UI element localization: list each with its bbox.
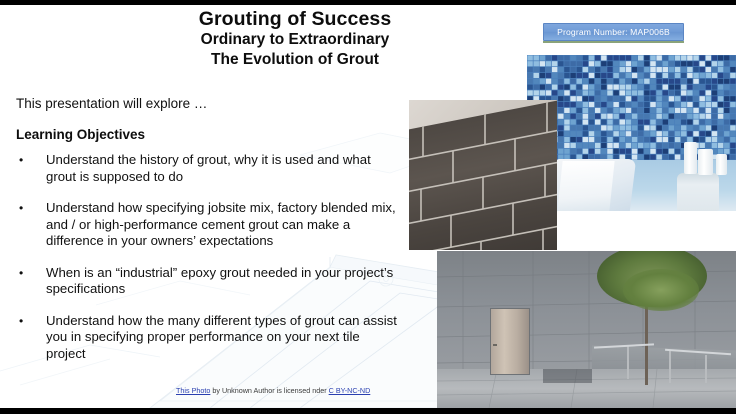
mosaic-candle: [684, 142, 697, 174]
bullet-point-icon: •: [16, 313, 46, 330]
bullet-point-icon: •: [16, 152, 46, 169]
photo-blue-mosaic-tile-wall: [527, 55, 736, 211]
letterbox-bar-bottom: [0, 408, 736, 414]
list-item: • Understand how the many different type…: [16, 313, 398, 363]
facade-tree-canopy-highlight: [623, 269, 699, 311]
facade-handrail-post: [627, 346, 629, 379]
mosaic-side-stool: [677, 173, 719, 211]
program-number-badge: Program Number: MAP006B: [543, 23, 684, 41]
attribution-photo-link[interactable]: This Photo: [176, 386, 210, 395]
mosaic-candle: [716, 154, 727, 175]
slide-subtitle-line-2: The Evolution of Grout: [110, 50, 480, 69]
attribution-license-link[interactable]: C BY-NC-ND: [329, 386, 371, 395]
program-number-label: Program Number: MAP006B: [557, 27, 670, 37]
mosaic-towel-fold: [557, 161, 614, 211]
bullet-point-icon: •: [16, 265, 46, 282]
photo-dark-gray-floor-tile: [409, 100, 557, 250]
facade-metal-door: [490, 308, 530, 375]
mosaic-candle: [698, 149, 713, 175]
intro-text: This presentation will explore …: [16, 96, 207, 111]
list-item-text: Understand how specifying jobsite mix, f…: [46, 200, 398, 250]
slide-subtitle-line-1: Ordinary to Extraordinary: [110, 30, 480, 49]
facade-handrail-post: [669, 351, 671, 383]
presentation-slide: Grouting of Success Ordinary to Extraord…: [0, 0, 736, 414]
list-item: • Understand the history of grout, why i…: [16, 152, 398, 185]
badge-underline-rule: [543, 41, 684, 43]
photo-gray-stone-building-exterior: [437, 251, 736, 408]
attribution-middle-text: by Unknown Author is licensed nder: [210, 386, 328, 395]
list-item: • Understand how specifying jobsite mix,…: [16, 200, 398, 250]
facade-door-handle: [493, 344, 497, 346]
facade-handrail-post: [705, 355, 707, 383]
learning-objectives-heading: Learning Objectives: [16, 127, 145, 142]
bullet-point-icon: •: [16, 200, 46, 217]
slide-title-block: Grouting of Success Ordinary to Extraord…: [110, 8, 480, 69]
page-title: Grouting of Success: [110, 8, 480, 30]
letterbox-bar-top: [0, 0, 736, 5]
photo-attribution: This Photo by Unknown Author is licensed…: [176, 386, 370, 395]
list-item: • When is an “industrial” epoxy grout ne…: [16, 265, 398, 298]
list-item-text: Understand how the many different types …: [46, 313, 398, 363]
learning-objectives-list: • Understand the history of grout, why i…: [16, 152, 398, 377]
list-item-text: When is an “industrial” epoxy grout need…: [46, 265, 398, 298]
facade-ground-shadow: [543, 369, 592, 383]
list-item-text: Understand the history of grout, why it …: [46, 152, 398, 185]
mosaic-tile-grid: [527, 55, 736, 160]
